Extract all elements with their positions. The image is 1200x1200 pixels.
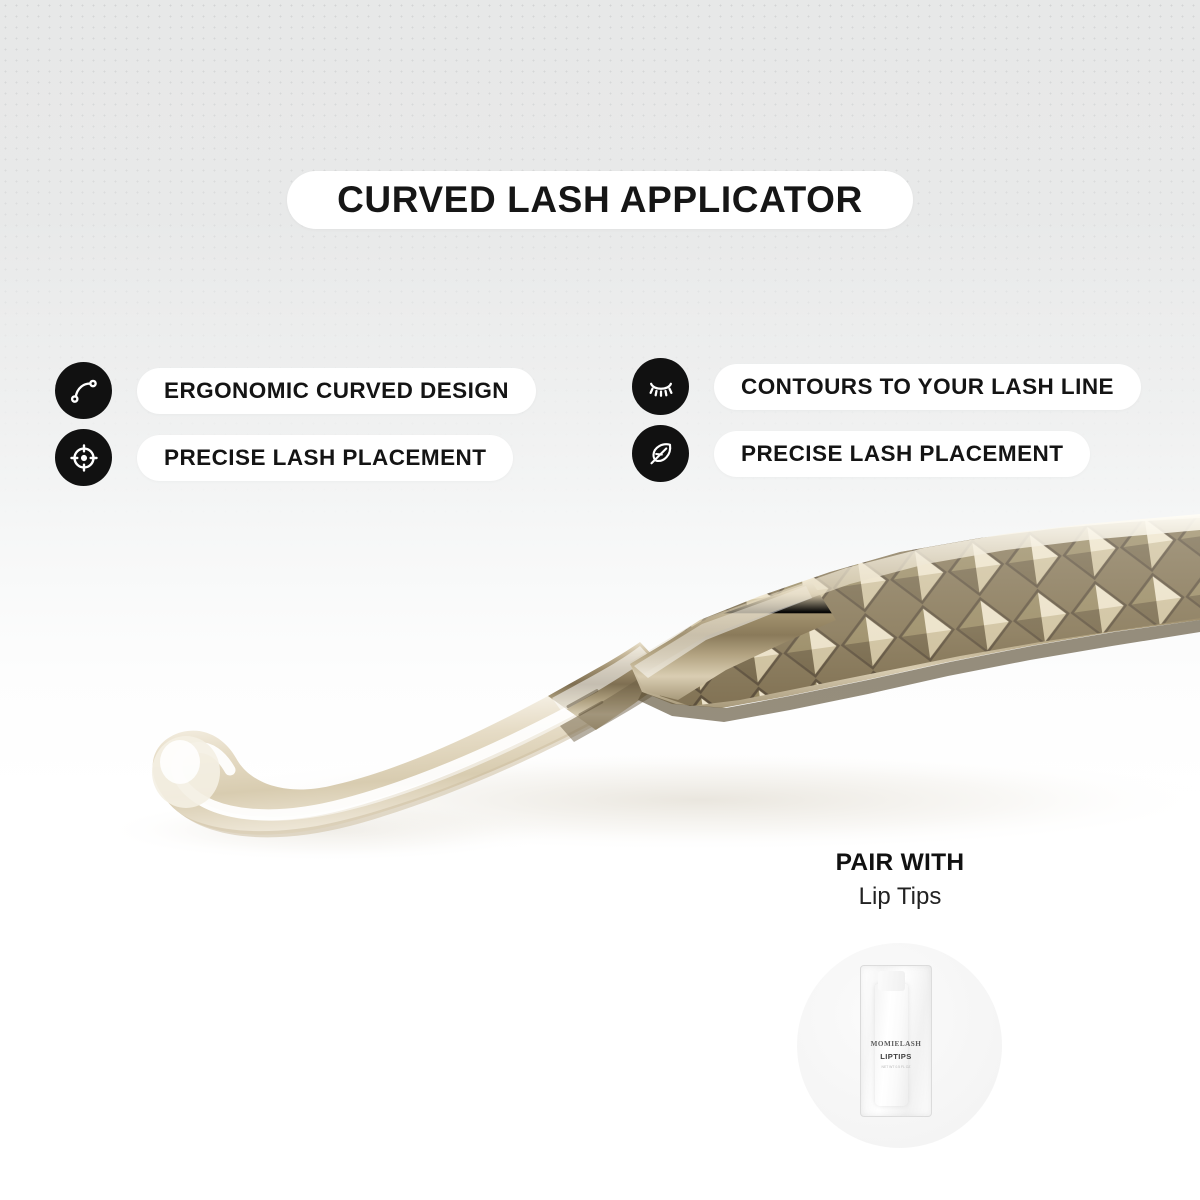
product-cap — [878, 971, 905, 991]
product-fineprint: NET WT 0.5 FL OZ — [861, 1064, 931, 1071]
curve-path-icon — [55, 362, 112, 419]
feature-item-precise-lash-placement-left[interactable]: PRECISE LASH PLACEMENT — [55, 429, 536, 486]
feature-pill: PRECISE LASH PLACEMENT — [714, 431, 1090, 477]
pair-with-section: PAIR WITH Lip Tips — [700, 848, 1100, 913]
feature-label: PRECISE LASH PLACEMENT — [164, 445, 486, 471]
feature-label: PRECISE LASH PLACEMENT — [741, 441, 1063, 467]
closed-eye-lashes-icon — [632, 358, 689, 415]
feature-item-precise-lash-placement-right[interactable]: PRECISE LASH PLACEMENT — [632, 425, 1141, 482]
feature-pill: PRECISE LASH PLACEMENT — [137, 435, 513, 481]
product-package: MOMIELASH LIPTIPS NET WT 0.5 FL OZ — [860, 965, 932, 1117]
feature-pill: CONTOURS TO YOUR LASH LINE — [714, 364, 1141, 410]
pair-with-product-name: Lip Tips — [700, 880, 1100, 914]
crosshair-target-icon — [55, 429, 112, 486]
page-title: CURVED LASH APPLICATOR — [287, 171, 913, 229]
product-name-label: LIPTIPS — [861, 1052, 931, 1061]
pair-with-heading: PAIR WITH — [700, 848, 1100, 879]
curved-lash-applicator-photo — [0, 500, 1200, 900]
feature-label: ERGONOMIC CURVED DESIGN — [164, 378, 509, 404]
feature-list-right: CONTOURS TO YOUR LASH LINE PRECISE LASH … — [632, 358, 1141, 492]
page-title-text: CURVED LASH APPLICATOR — [337, 179, 863, 221]
pair-with-product-thumbnail[interactable]: MOMIELASH LIPTIPS NET WT 0.5 FL OZ — [797, 943, 1002, 1148]
feature-item-contours-to-your-lash-line[interactable]: CONTOURS TO YOUR LASH LINE — [632, 358, 1141, 415]
feature-label: CONTOURS TO YOUR LASH LINE — [741, 374, 1114, 400]
feather-icon — [632, 425, 689, 482]
feature-item-ergonomic-curved-design[interactable]: ERGONOMIC CURVED DESIGN — [55, 362, 536, 419]
product-brand-label: MOMIELASH — [861, 1040, 931, 1048]
feature-pill: ERGONOMIC CURVED DESIGN — [137, 368, 536, 414]
product-feature-card: CURVED LASH APPLICATOR ERGONOMIC CURVED … — [0, 0, 1200, 1200]
feature-list-left: ERGONOMIC CURVED DESIGN PRECISE LASH PLA… — [55, 362, 536, 496]
